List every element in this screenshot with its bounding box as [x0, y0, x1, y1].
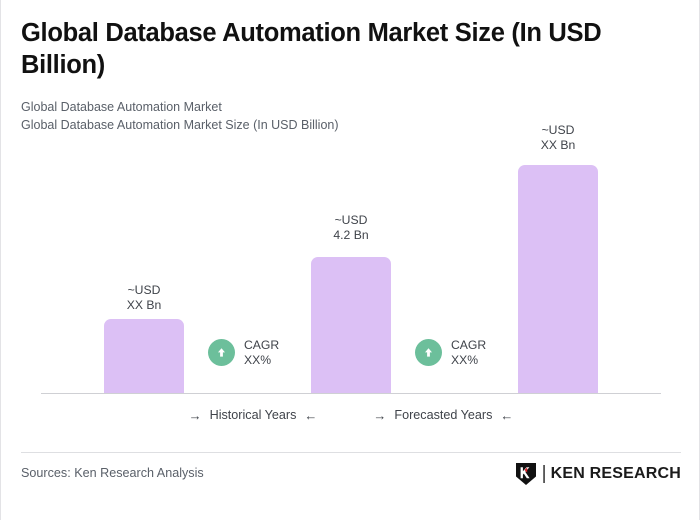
bar-item[interactable]: [311, 257, 391, 393]
cagr-badge: CAGR XX%: [208, 338, 279, 368]
sources-text: Sources: Ken Research Analysis: [21, 466, 204, 480]
chart-subtitle-line-1: Global Database Automation Market: [21, 98, 339, 116]
logo-wordmark: KEN RESEARCH: [551, 465, 681, 483]
bar-value-label-line-2: 4.2 Bn: [291, 228, 411, 243]
cagr-badge-text: CAGR XX%: [451, 338, 486, 368]
x-axis-baseline: [41, 393, 661, 394]
chart-subtitle-line-2: Global Database Automation Market Size (…: [21, 116, 339, 134]
bar-item[interactable]: [104, 319, 184, 393]
cagr-badge-line-1: CAGR: [244, 338, 279, 353]
bar-value-label-line-1: ~USD: [498, 123, 618, 138]
ken-research-logo: KEN RESEARCH: [515, 462, 681, 486]
bar-value-label-line-2: XX Bn: [84, 298, 204, 313]
chart-page: Global Database Automation Market Size (…: [0, 0, 700, 520]
page-title: Global Database Automation Market Size (…: [21, 18, 661, 82]
bar-value-label: ~USD XX Bn: [84, 283, 204, 313]
cagr-badge-line-2: XX%: [451, 353, 486, 368]
legend-item-historical-years: → Historical Years ←: [189, 408, 318, 422]
bar-value-label-line-2: XX Bn: [498, 138, 618, 153]
period-legend: → Historical Years ← → Forecasted Years …: [41, 408, 661, 422]
bar-value-label-line-1: ~USD: [291, 213, 411, 228]
arrow-right-icon: →: [189, 409, 202, 422]
cagr-badge-text: CAGR XX%: [244, 338, 279, 368]
cagr-badge-line-1: CAGR: [451, 338, 486, 353]
legend-item-forecasted-years: → Forecasted Years ←: [373, 408, 513, 422]
logo-divider-icon: [541, 464, 547, 484]
bar-value-label: ~USD 4.2 Bn: [291, 213, 411, 243]
legend-label: Forecasted Years: [394, 408, 492, 422]
arrow-up-icon: [208, 339, 235, 366]
arrow-right-icon: →: [373, 409, 386, 422]
chart-subtitles: Global Database Automation Market Global…: [21, 98, 339, 134]
bar-value-label: ~USD XX Bn: [498, 123, 618, 153]
arrow-left-icon: ←: [500, 409, 513, 422]
arrow-left-icon: ←: [304, 409, 317, 422]
ken-research-shield-icon: [515, 462, 537, 486]
footer-divider: [21, 452, 681, 453]
cagr-badge: CAGR XX%: [415, 338, 486, 368]
bar-item[interactable]: [518, 165, 598, 393]
cagr-badge-line-2: XX%: [244, 353, 279, 368]
arrow-up-icon: [415, 339, 442, 366]
bar-value-label-line-1: ~USD: [84, 283, 204, 298]
legend-label: Historical Years: [210, 408, 297, 422]
